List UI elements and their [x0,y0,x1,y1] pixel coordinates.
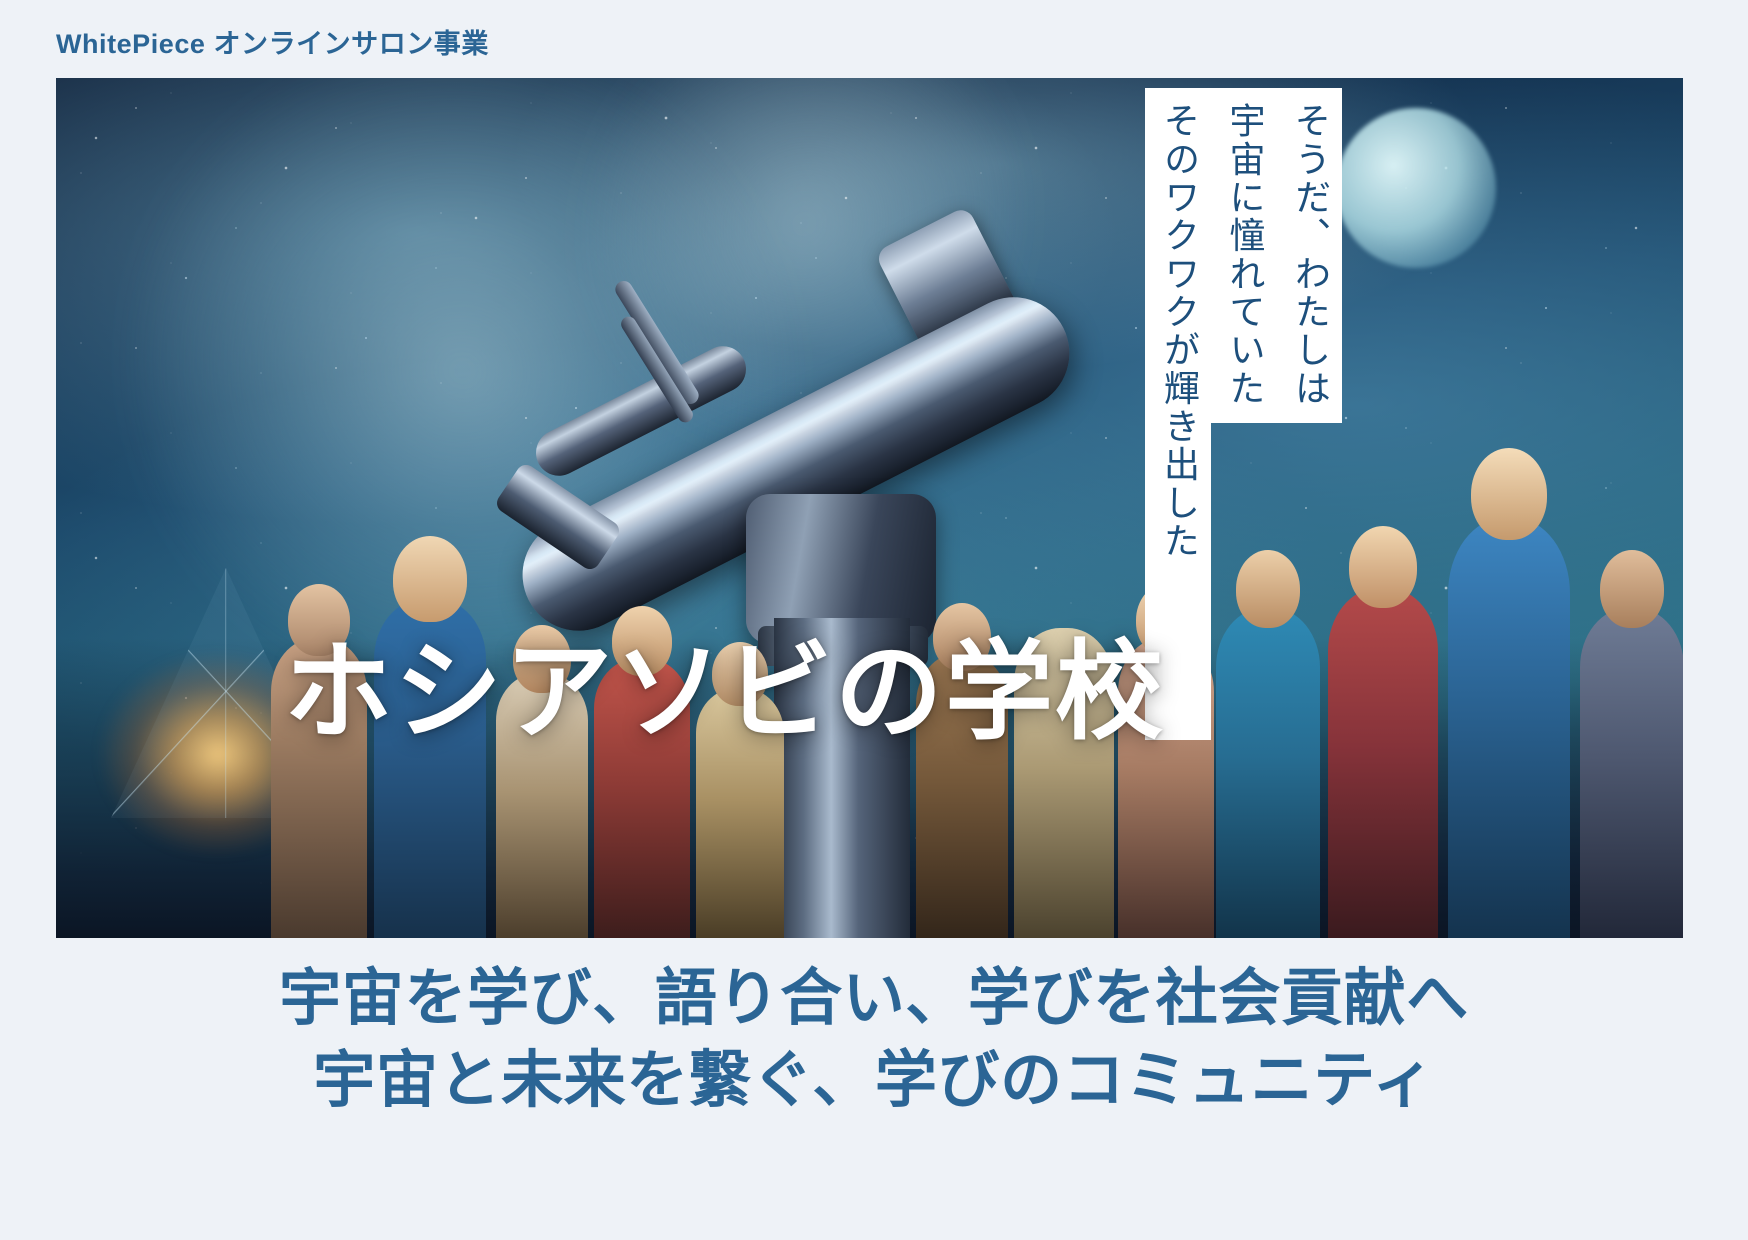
person-head [1600,550,1664,628]
person-silhouette [1448,518,1570,938]
tagline-line-1: 宇宙を学び、語り合い、学びを社会貢献へ [0,958,1748,1040]
tagline-block: 宇宙を学び、語り合い、学びを社会貢献へ 宇宙と未来を繋ぐ、学びのコミュニティ [0,958,1748,1123]
brand-label: WhitePiece オンラインサロン事業 [56,22,489,61]
hero-image: そのワクワクが輝き出した 宇宙に憧れていた そうだ、わたしは [56,78,1683,938]
person-silhouette [1580,608,1683,938]
person-head [1349,526,1417,608]
person-head [1471,448,1547,540]
catch-copy-panel: そのワクワクが輝き出した 宇宙に憧れていた そうだ、わたしは [1145,88,1342,740]
moon-icon [1336,108,1496,268]
page-title: ホシアソビの学校 [284,633,1165,752]
tagline-line-2: 宇宙と未来を繋ぐ、学びのコミュニティ [0,1040,1748,1122]
catch-copy-column-1: そうだ、わたしは [1276,88,1342,423]
person-silhouette [1328,588,1438,938]
person-head [393,536,467,622]
catch-copy-column-2: 宇宙に憧れていた [1211,88,1277,423]
